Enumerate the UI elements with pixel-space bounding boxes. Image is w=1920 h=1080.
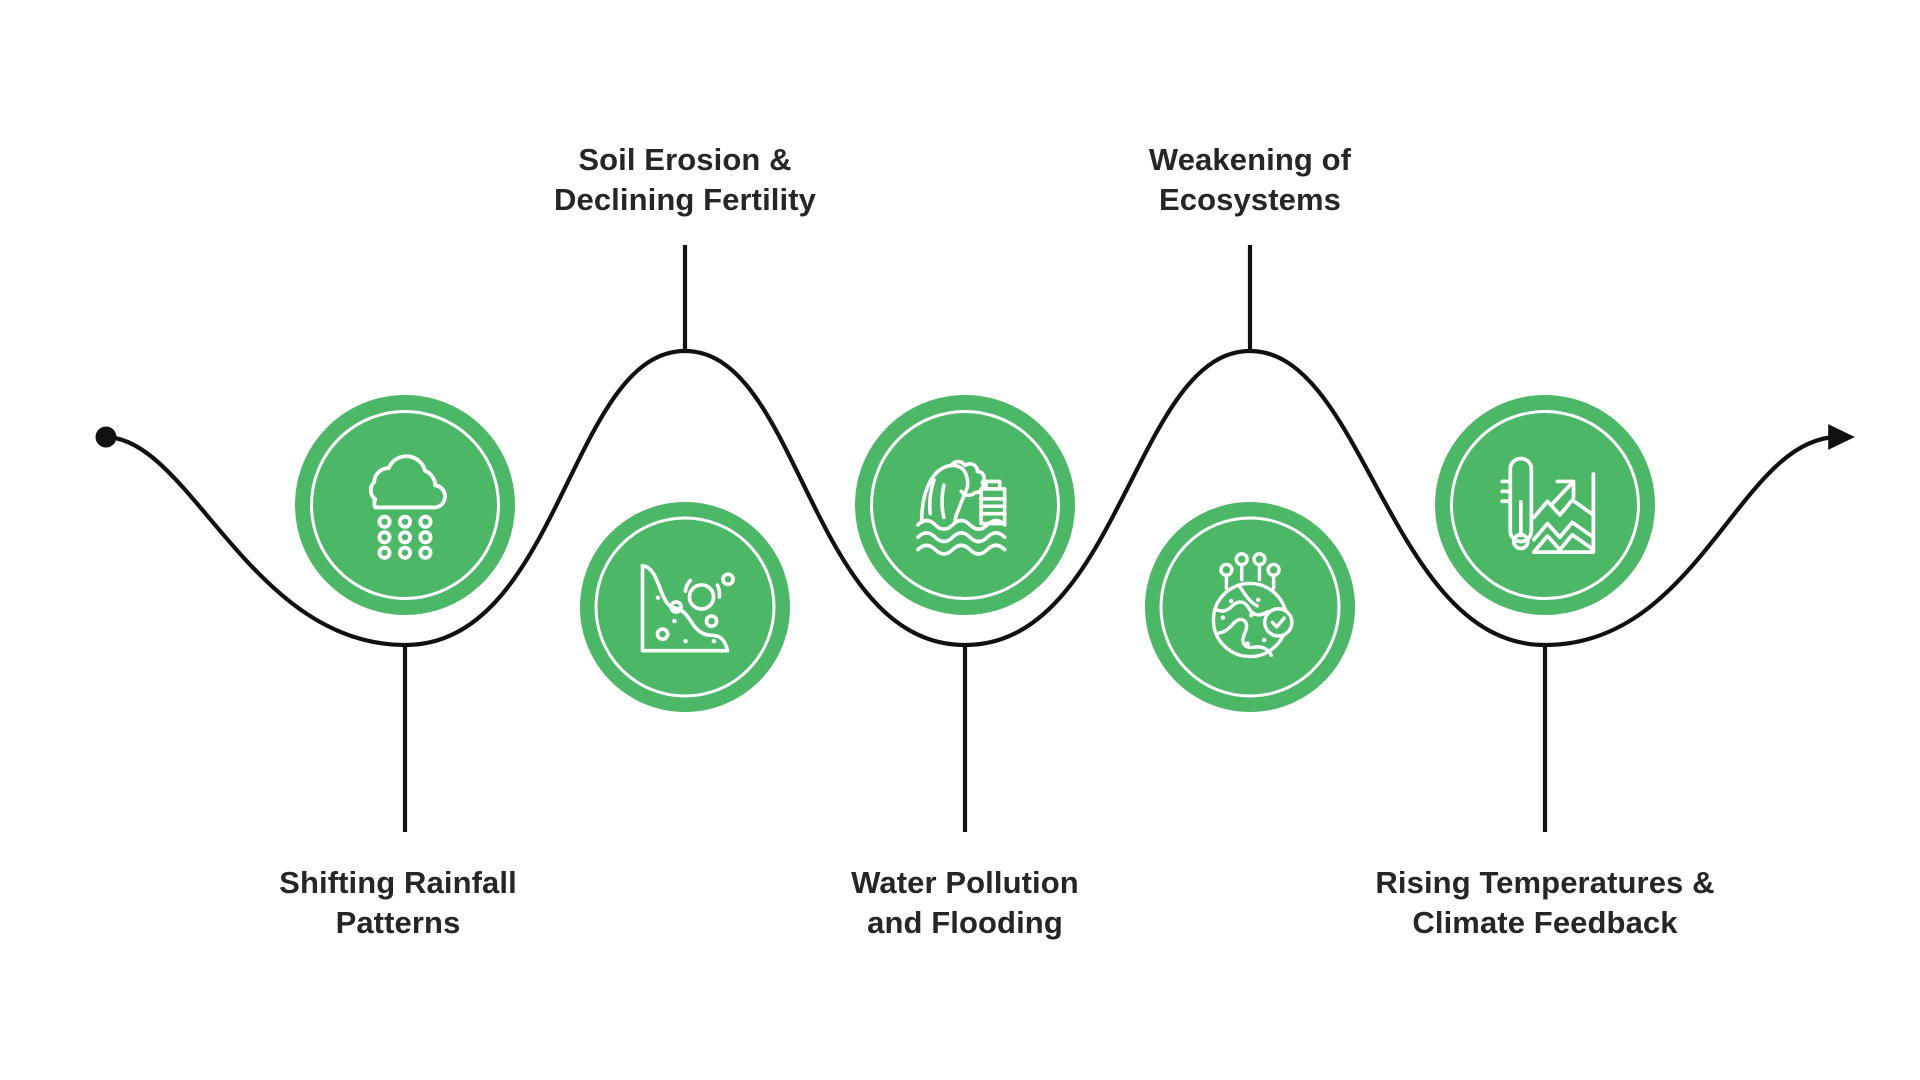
thermometer-rising-chart-icon (1483, 443, 1607, 567)
water-pollution-outflow-icon (903, 443, 1027, 567)
label-soil-erosion: Soil Erosion & Declining Fertility (455, 140, 915, 219)
node-circle-water-pollution[interactable] (855, 395, 1075, 615)
start-dot (96, 427, 117, 448)
label-shifting-rainfall: Shifting Rainfall Patterns (168, 863, 628, 942)
node-circle-shifting-rainfall[interactable] (295, 395, 515, 615)
label-weakening-ecosystems: Weakening of Ecosystems (1020, 140, 1480, 219)
label-rising-temperatures: Rising Temperatures & Climate Feedback (1285, 863, 1805, 942)
rain-cloud-icon (343, 443, 467, 567)
infographic-canvas: Soil Erosion & Declining Fertility Weake… (0, 0, 1920, 1080)
label-water-pollution: Water Pollution and Flooding (735, 863, 1195, 942)
node-circle-weakening-ecosystems[interactable] (1145, 502, 1355, 712)
soil-erosion-landslide-icon (626, 548, 744, 666)
node-circle-soil-erosion[interactable] (580, 502, 790, 712)
node-circle-rising-temperatures[interactable] (1435, 395, 1655, 615)
ecosystem-globe-icon (1191, 548, 1309, 666)
